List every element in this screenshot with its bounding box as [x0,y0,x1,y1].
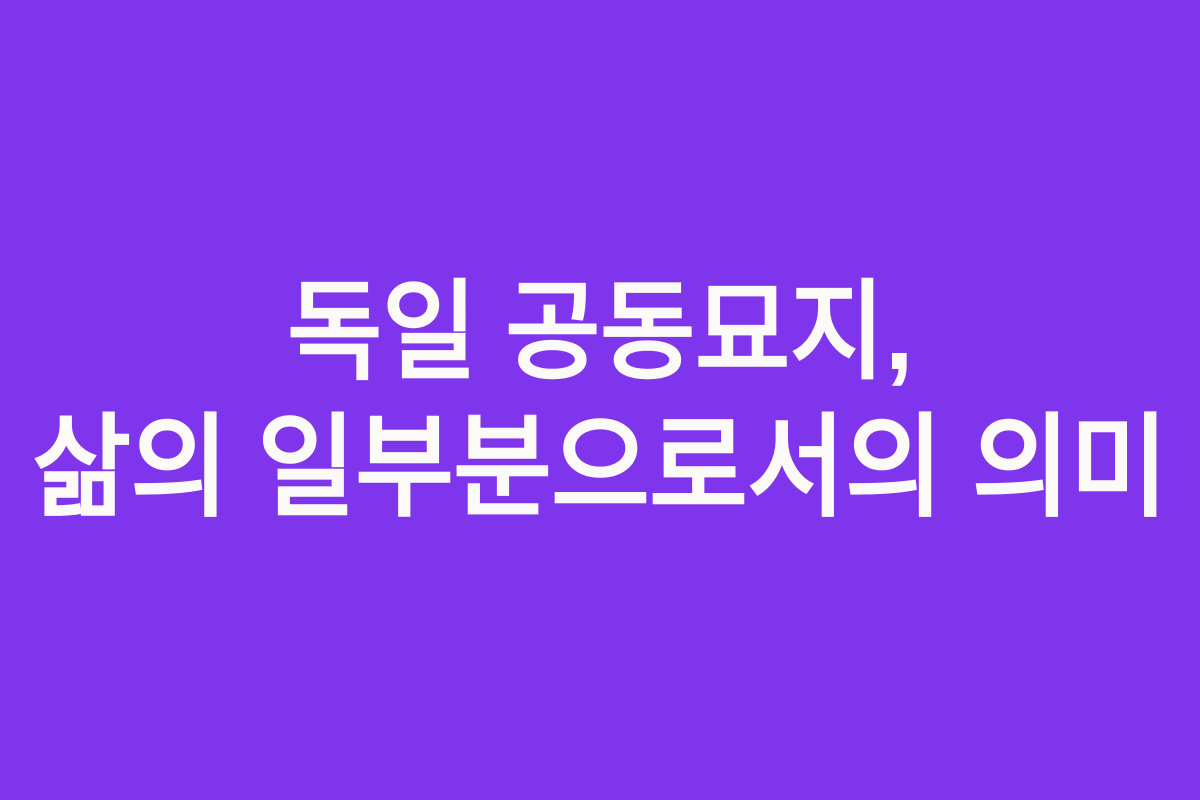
title-card: 독일 공동묘지, 삶의 일부분으로서의 의미 [0,0,1200,800]
page-title: 독일 공동묘지, 삶의 일부분으로서의 의미 [24,264,1176,536]
headline-line-2: 삶의 일부분으로서의 의미 [24,400,1176,536]
headline-line-1: 독일 공동묘지, [24,264,1176,400]
